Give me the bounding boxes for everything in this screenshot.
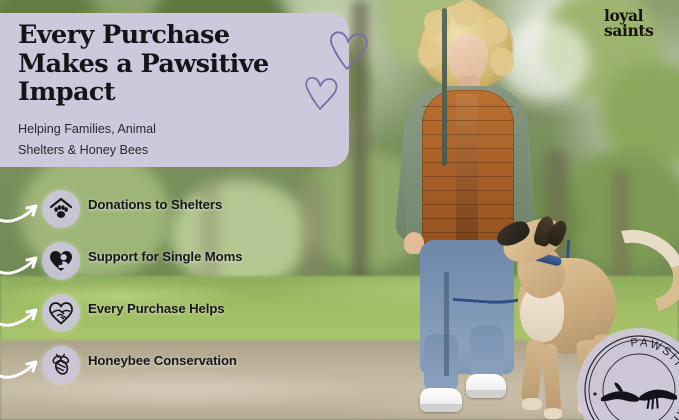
seal-text: PAWSITIVE IMPACT <box>630 337 679 420</box>
hair-curl <box>482 18 508 44</box>
hair-curl <box>418 40 442 68</box>
svg-text:PAWSITIVE IMPACT: PAWSITIVE IMPACT <box>630 337 679 420</box>
headline-line-3: Impact <box>18 78 340 107</box>
list-item-label: Support for Single Moms <box>88 249 242 264</box>
arrow-right-icon <box>0 194 42 228</box>
pawsitive-impact-seal: PAWSITIVE IMPACT <box>577 328 679 420</box>
heart-mother-child-icon <box>42 242 80 280</box>
dog-paw <box>544 408 562 419</box>
subheadline-line-1: Helping Families, Animal <box>18 119 318 140</box>
honeybee-icon <box>42 346 80 384</box>
headline-card: Every Purchase Makes a Pawsitive Impact … <box>0 13 349 167</box>
house-paw-icon <box>42 190 80 228</box>
list-item-label: Every Purchase Helps <box>88 301 225 316</box>
hair-curl <box>452 0 482 26</box>
list-item[interactable]: Honeybee Conservation <box>0 344 300 396</box>
brand-logo-line-2: saints <box>604 23 674 38</box>
dog-front-leg <box>542 344 562 413</box>
heart-handshake-icon <box>42 294 80 332</box>
arrow-right-icon <box>0 246 42 280</box>
list-item[interactable]: Donations to Shelters <box>0 188 300 240</box>
left-sneaker-sole <box>420 404 462 412</box>
list-item-label: Donations to Shelters <box>88 197 222 212</box>
right-leg <box>470 326 504 380</box>
hand-and-paw-icon <box>601 383 677 409</box>
hair-curl <box>490 48 514 76</box>
promotional-banner: Every Purchase Makes a Pawsitive Impact … <box>0 0 679 420</box>
subheadline-line-2: Shelters & Honey Bees <box>18 140 318 161</box>
page-title: Every Purchase Makes a Pawsitive Impact <box>18 21 340 107</box>
feature-list: Donations to Shelters Support for Single… <box>0 188 300 396</box>
list-item-label: Honeybee Conservation <box>88 353 237 368</box>
subheadline: Helping Families, Animal Shelters & Hone… <box>18 119 318 160</box>
brand-logo[interactable]: loyal saints <box>604 8 674 38</box>
list-item[interactable]: Every Purchase Helps <box>0 292 300 344</box>
headline-line-1: Every Purchase <box>18 21 340 50</box>
jeans-inseam <box>444 272 449 376</box>
seal-graphic: PAWSITIVE IMPACT <box>577 328 679 420</box>
vest-opening <box>442 8 447 166</box>
arrow-right-icon <box>0 350 42 384</box>
heart-doodle-lower-icon <box>300 72 342 112</box>
arrow-right-icon <box>0 298 42 332</box>
heart-doodle-upper-icon <box>323 25 373 73</box>
left-leg <box>424 334 458 392</box>
headline-line-2: Makes a Pawsitive <box>18 50 340 79</box>
list-item[interactable]: Support for Single Moms <box>0 240 300 292</box>
dog-front-leg <box>521 339 544 402</box>
dog-paw <box>522 398 542 410</box>
